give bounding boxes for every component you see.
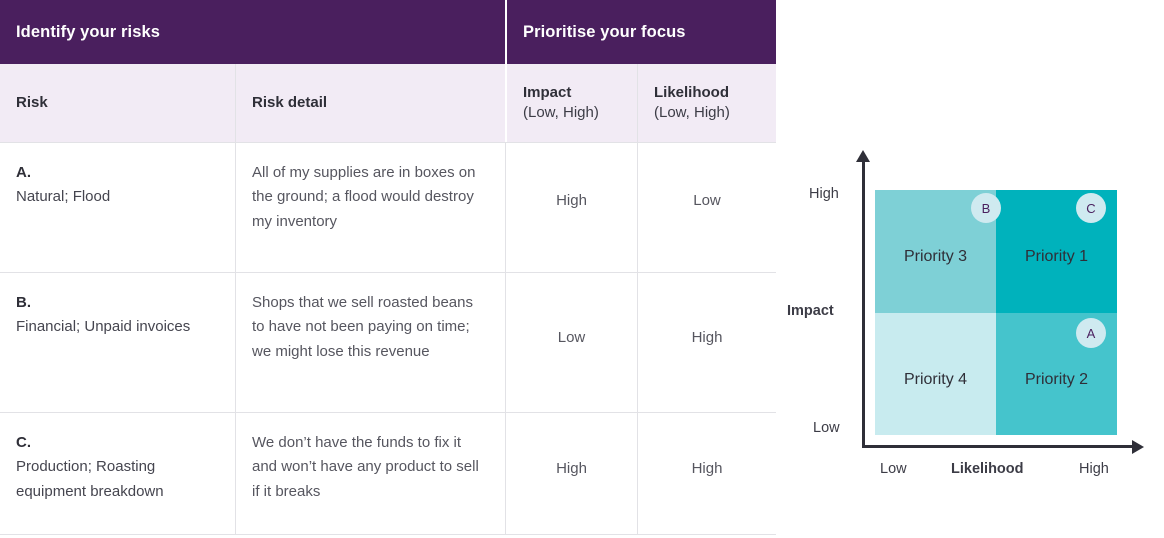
column-header-risk-title: Risk	[16, 93, 219, 113]
x-axis-arrow-icon	[1132, 440, 1144, 454]
cell-impact: High	[505, 413, 637, 534]
x-axis-tick-high: High	[1079, 461, 1109, 477]
group-header-identify-risks: Identify your risks	[0, 0, 505, 64]
column-header-impact: Impact (Low, High)	[505, 64, 637, 142]
y-axis-arrow-icon	[856, 150, 870, 162]
y-axis-line	[862, 160, 865, 448]
risk-marker-b: B	[971, 193, 1001, 223]
risk-letter: B.	[16, 291, 219, 315]
cell-impact: High	[505, 143, 637, 272]
x-axis-tick-low: Low	[880, 461, 907, 477]
table-row: A. Natural; Flood All of my supplies are…	[0, 142, 776, 272]
column-header-impact-subtitle: (Low, High)	[523, 103, 621, 123]
cell-risk-detail: Shops that we sell roasted beans to have…	[235, 273, 505, 412]
table-row: B. Financial; Unpaid invoices Shops that…	[0, 272, 776, 412]
column-header-risk: Risk	[0, 64, 235, 142]
quadrant-priority-4: Priority 4	[875, 313, 996, 436]
cell-likelihood: High	[637, 413, 776, 534]
column-header-likelihood-subtitle: (Low, High)	[654, 103, 760, 123]
cell-risk-name: B. Financial; Unpaid invoices	[0, 273, 235, 412]
table-bottom-rule	[0, 534, 776, 535]
risk-category: Financial; Unpaid invoices	[16, 315, 219, 339]
table-column-header-row: Risk Risk detail Impact (Low, High) Like…	[0, 64, 776, 142]
risk-category: Natural; Flood	[16, 185, 219, 209]
risk-category: Production; Roasting equipment breakdown	[16, 455, 219, 504]
cell-risk-detail: All of my supplies are in boxes on the g…	[235, 143, 505, 272]
cell-risk-detail: We don’t have the funds to fix it and wo…	[235, 413, 505, 534]
column-header-impact-title: Impact	[523, 83, 621, 103]
column-header-likelihood-title: Likelihood	[654, 83, 760, 103]
quadrant-priority-4-label: Priority 4	[904, 371, 967, 389]
table-row: C. Production; Roasting equipment breakd…	[0, 412, 776, 534]
cell-risk-name: C. Production; Roasting equipment breakd…	[0, 413, 235, 534]
risk-table: Identify your risks Prioritise your focu…	[0, 0, 776, 538]
risk-marker-a: A	[1076, 318, 1106, 348]
x-axis-title: Likelihood	[951, 461, 1024, 477]
table-group-header-row: Identify your risks Prioritise your focu…	[0, 0, 776, 64]
cell-likelihood: High	[637, 273, 776, 412]
risk-marker-c: C	[1076, 193, 1106, 223]
priority-matrix-chart: Priority 3 Priority 1 Priority 4 Priorit…	[776, 0, 1164, 538]
risk-letter: A.	[16, 161, 219, 185]
quadrant-priority-3-label: Priority 3	[904, 248, 967, 266]
quadrant-grid: Priority 3 Priority 1 Priority 4 Priorit…	[875, 190, 1117, 435]
quadrant-priority-2-label: Priority 2	[1025, 371, 1088, 389]
group-header-prioritise-focus: Prioritise your focus	[505, 0, 776, 64]
column-header-risk-detail-title: Risk detail	[252, 93, 489, 113]
cell-risk-name: A. Natural; Flood	[0, 143, 235, 272]
y-axis-tick-high: High	[809, 186, 839, 202]
y-axis-title: Impact	[787, 303, 834, 319]
y-axis-tick-low: Low	[813, 420, 840, 436]
cell-likelihood: Low	[637, 143, 776, 272]
risk-letter: C.	[16, 431, 219, 455]
column-header-risk-detail: Risk detail	[235, 64, 505, 142]
x-axis-line	[862, 445, 1134, 448]
risk-assessment-worksheet: Identify your risks Prioritise your focu…	[0, 0, 1164, 538]
cell-impact: Low	[505, 273, 637, 412]
column-header-likelihood: Likelihood (Low, High)	[637, 64, 776, 142]
quadrant-priority-1-label: Priority 1	[1025, 248, 1088, 266]
